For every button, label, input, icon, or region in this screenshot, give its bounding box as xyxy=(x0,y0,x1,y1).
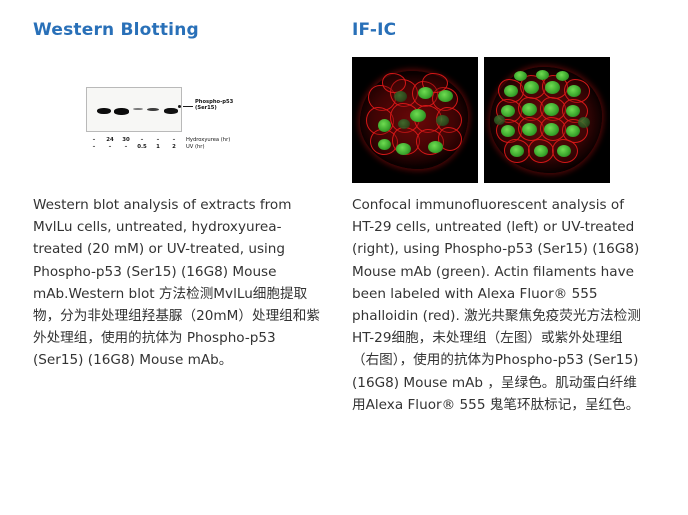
western-blotting-column: Western Blotting Phospho- xyxy=(0,0,344,515)
lane-value: – xyxy=(150,137,166,144)
blot-lane-labels: – 24 30 – – – – – – 0.5 1 xyxy=(86,137,182,151)
blot-lane-row-hydroxyurea: – 24 30 – – – xyxy=(86,137,182,144)
lane-value: 2 xyxy=(166,144,182,151)
blot-band-lane1 xyxy=(97,108,111,114)
two-column-layout: Western Blotting Phospho- xyxy=(0,0,688,515)
blot-band-lane4 xyxy=(147,108,159,111)
if-ic-caption: Confocal immunofluorescent analysis of H… xyxy=(348,190,646,416)
lane-value: 30 xyxy=(118,137,134,144)
lane-value: – xyxy=(102,144,118,151)
western-blot-figure: Phospho-p53 (Ser15) – 24 30 – – – xyxy=(86,87,234,151)
western-blotting-caption: Western blot analysis of extracts from M… xyxy=(33,190,330,372)
blot-target-label: Phospho-p53 (Ser15) xyxy=(195,99,233,112)
lane-value: – xyxy=(86,137,102,144)
lane-value: – xyxy=(118,144,134,151)
if-ic-column: IF-IC xyxy=(344,0,688,515)
blot-band-lane3 xyxy=(133,108,143,110)
blot-lane-row-uv: – – – 0.5 1 2 xyxy=(86,144,182,151)
blot-band-lane5 xyxy=(164,108,178,114)
if-ic-figure-area xyxy=(348,40,646,190)
page-title-western-blotting: Western Blotting xyxy=(33,0,330,40)
confocal-figure xyxy=(352,57,610,183)
blot-target-annotation: Phospho-p53 (Ser15) xyxy=(178,99,233,112)
western-blot-figure-area: Phospho-p53 (Ser15) – 24 30 – – – xyxy=(33,40,330,190)
lane-value: – xyxy=(86,144,102,151)
lane-value: 1 xyxy=(150,144,166,151)
annotation-pointer-icon xyxy=(183,106,193,107)
annotation-dot-icon xyxy=(178,105,181,108)
untreated-panel xyxy=(352,57,478,183)
blot-band-lane2 xyxy=(114,108,129,115)
blot-target-label-line2: (Ser15) xyxy=(195,105,217,111)
blot-membrane xyxy=(86,87,182,132)
lane-axis-label-hydroxyurea: Hydroxyurea (hr) xyxy=(186,137,230,144)
western-blot-image: Phospho-p53 (Ser15) – 24 30 – – – xyxy=(86,87,234,151)
lane-value: 0.5 xyxy=(134,144,150,151)
blot-target-label-line1: Phospho-p53 xyxy=(195,99,233,105)
lane-value: – xyxy=(134,137,150,144)
lane-axis-label-uv: UV (hr) xyxy=(186,144,204,151)
lane-value: 24 xyxy=(102,137,118,144)
page-title-if-ic: IF-IC xyxy=(348,0,646,40)
lane-value: – xyxy=(166,137,182,144)
uv-treated-panel xyxy=(484,57,610,183)
